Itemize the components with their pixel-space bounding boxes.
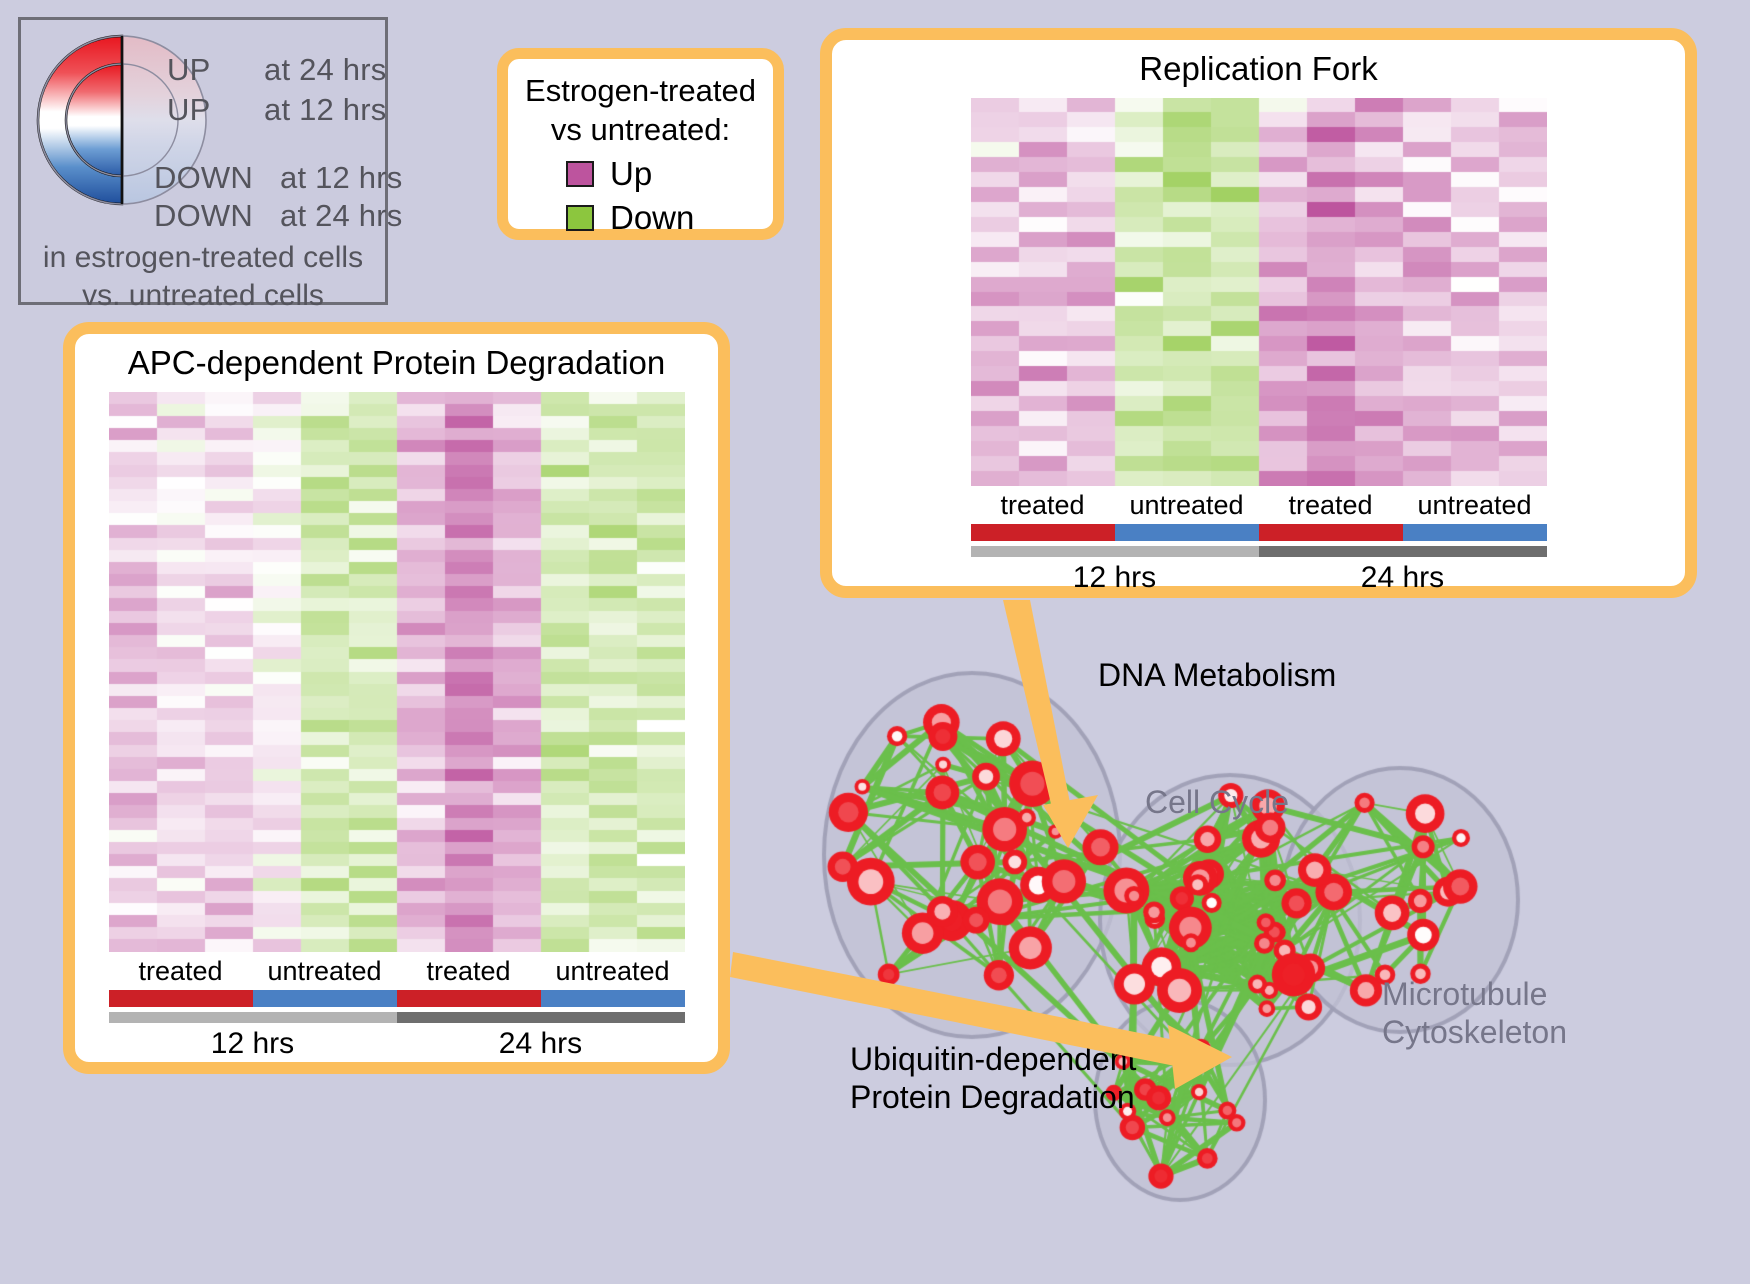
cluster-label-ubiquitin-degradation: Ubiquitin-dependent Protein Degradation — [850, 1040, 1136, 1116]
group-label-untreated-12: untreated — [1115, 490, 1259, 521]
time-label-24hrs: 24 hrs — [1259, 561, 1547, 595]
apc-time-label-24hrs: 24 hrs — [397, 1027, 685, 1061]
ubiquitin-line1: Ubiquitin-dependent — [850, 1040, 1136, 1078]
pathway-network-diagram: DNA Metabolism Cell Cycle Microtubule Cy… — [800, 620, 1750, 1279]
treatment-seg-untreated-24 — [1403, 524, 1547, 541]
treatment-bar-apc: treated untreated treated untreated — [109, 990, 685, 1007]
panel-title-apc: APC-dependent Protein Degradation — [75, 344, 718, 382]
estrogen-key-title-line1: Estrogen-treated — [508, 71, 773, 110]
panel-title-replication-fork: Replication Fork — [832, 50, 1685, 88]
down-color-swatch — [566, 205, 594, 231]
down-label: Down — [610, 199, 694, 237]
figure-canvas: UP at 24 hrs UP at 12 hrs DOWN at 12 hrs… — [0, 0, 1750, 1279]
ring-time-down-12: at 12 hrs — [280, 160, 402, 196]
time-seg-12hrs — [971, 546, 1259, 557]
apc-time-seg-12hrs — [109, 1012, 397, 1023]
ring-label-down-12: DOWN — [154, 160, 253, 196]
apc-treatment-seg-treated-12 — [109, 990, 253, 1007]
time-bar-apc — [109, 1012, 685, 1023]
apc-treatment-seg-untreated-24 — [541, 990, 685, 1007]
heatmap-apc-degradation — [109, 392, 685, 952]
heatmap-replication-fork — [971, 98, 1547, 486]
cluster-label-cell-cycle: Cell Cycle — [1145, 784, 1289, 821]
ring-footer-line2: vs. untreated cells — [21, 276, 385, 316]
ring-label-up-24: UP — [167, 52, 210, 88]
time-label-12hrs: 12 hrs — [971, 561, 1259, 595]
ring-legend-box: UP at 24 hrs UP at 12 hrs DOWN at 12 hrs… — [18, 17, 388, 305]
treatment-seg-treated-12 — [971, 524, 1115, 541]
ring-footer-line1: in estrogen-treated cells — [21, 238, 385, 278]
apc-time-label-12hrs: 12 hrs — [109, 1027, 397, 1061]
ubiquitin-line2: Protein Degradation — [850, 1078, 1136, 1116]
estrogen-key-item-down: Down — [566, 199, 773, 237]
panel-replication-fork: Replication Fork treated untreated treat… — [820, 28, 1697, 598]
estrogen-key-item-up: Up — [566, 155, 773, 193]
time-labels-apc: 12 hrs 24 hrs — [109, 1027, 685, 1065]
estrogen-key-title-line2: vs untreated: — [508, 110, 773, 149]
panel-apc-degradation: APC-dependent Protein Degradation treate… — [63, 322, 730, 1074]
microtubule-line2: Cytoskeleton — [1382, 1013, 1567, 1051]
apc-group-label-treated-12: treated — [109, 956, 253, 987]
time-labels-replication: 12 hrs 24 hrs — [971, 561, 1547, 599]
cluster-label-microtubule-cytoskeleton: Microtubule Cytoskeleton — [1382, 975, 1567, 1051]
estrogen-key-box: Estrogen-treated vs untreated: Up Down — [497, 48, 784, 240]
network-canvas — [800, 620, 1750, 1279]
up-color-swatch — [566, 161, 594, 187]
cluster-label-dna-metabolism: DNA Metabolism — [1098, 657, 1336, 694]
apc-group-label-untreated-12: untreated — [253, 956, 397, 987]
time-seg-24hrs — [1259, 546, 1547, 557]
treatment-seg-untreated-12 — [1115, 524, 1259, 541]
ring-time-up-12: at 12 hrs — [264, 92, 386, 128]
ring-time-up-24: at 24 hrs — [264, 52, 386, 88]
group-label-untreated-24: untreated — [1403, 490, 1547, 521]
time-bar-replication — [971, 546, 1547, 557]
group-label-treated-12: treated — [971, 490, 1115, 521]
group-label-treated-24: treated — [1259, 490, 1403, 521]
apc-treatment-seg-treated-24 — [397, 990, 541, 1007]
apc-group-label-untreated-24: untreated — [541, 956, 685, 987]
ring-time-down-24: at 24 hrs — [280, 198, 402, 234]
microtubule-line1: Microtubule — [1382, 975, 1567, 1013]
treatment-bar-replication: treated untreated treated untreated — [971, 524, 1547, 541]
treatment-seg-treated-24 — [1259, 524, 1403, 541]
apc-treatment-seg-untreated-12 — [253, 990, 397, 1007]
apc-time-seg-24hrs — [397, 1012, 685, 1023]
ring-label-up-12: UP — [167, 92, 210, 128]
up-label: Up — [610, 155, 652, 193]
ring-label-down-24: DOWN — [154, 198, 253, 234]
apc-group-label-treated-24: treated — [397, 956, 541, 987]
